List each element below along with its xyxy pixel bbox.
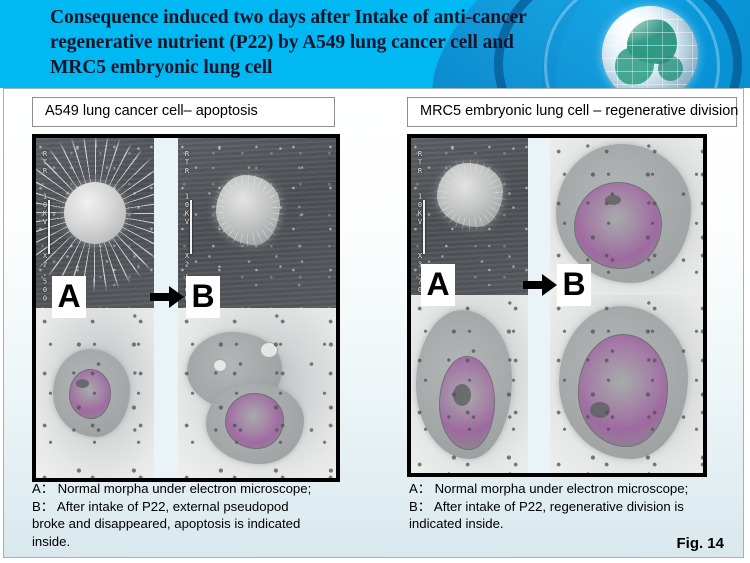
figure-box-a549: RTR 10KV X2,500 <box>32 134 340 482</box>
panel-title-a549: A549 lung cancer cell– apoptosis <box>32 97 335 127</box>
tem-granules-mrc5-b-bottom <box>550 295 703 473</box>
tem-granules-b <box>178 308 336 478</box>
caption-mrc5: A： Normal morpha under electron microsco… <box>409 480 739 533</box>
caption-a549: A： Normal morpha under electron microsco… <box>32 480 382 550</box>
label-a-right-panel: A <box>421 264 455 306</box>
sem-overlay-text-a: RTR 10KV X2,500 <box>40 150 49 303</box>
tem-image-mrc5-a <box>411 295 528 473</box>
tem-image-a549-b <box>178 308 336 478</box>
right-arrow-icon <box>150 286 184 308</box>
right-arrow-icon-2 <box>523 274 557 296</box>
label-b-right-panel: B <box>557 264 591 306</box>
figure-number: Fig. 14 <box>676 535 724 552</box>
tem-image-mrc5-b-bottom <box>550 295 703 473</box>
tem-image-a549-a <box>36 308 154 478</box>
tem-granules-mrc5-a <box>411 295 528 473</box>
content-area: A549 lung cancer cell– apoptosis RTR 10K… <box>3 88 744 558</box>
fibroblast-cell-body <box>437 163 503 227</box>
panel-a549: A549 lung cancer cell– apoptosis RTR 10K… <box>32 97 377 482</box>
column-gap-right <box>528 138 550 473</box>
slide: Consequence induced two days after Intak… <box>0 0 750 563</box>
column-gap-left <box>154 138 178 478</box>
panel-title-mrc5: MRC5 embryonic lung cell – regenerative … <box>407 97 737 127</box>
microvilli-fringe <box>427 153 513 237</box>
label-a-left-panel: A <box>52 276 86 318</box>
header-banner: Consequence induced two days after Intak… <box>0 0 750 88</box>
figure-box-mrc5: RTR 10KV X3,700 <box>407 134 707 477</box>
slide-title: Consequence induced two days after Intak… <box>50 5 570 80</box>
apoptotic-cell-body <box>64 182 126 244</box>
label-b-left-panel: B <box>186 276 220 318</box>
broken-pseudopod-fringe <box>206 165 290 255</box>
panel-mrc5: MRC5 embryonic lung cell – regenerative … <box>407 97 737 477</box>
tem-granules <box>36 308 154 478</box>
retracted-cell-body <box>216 175 280 245</box>
